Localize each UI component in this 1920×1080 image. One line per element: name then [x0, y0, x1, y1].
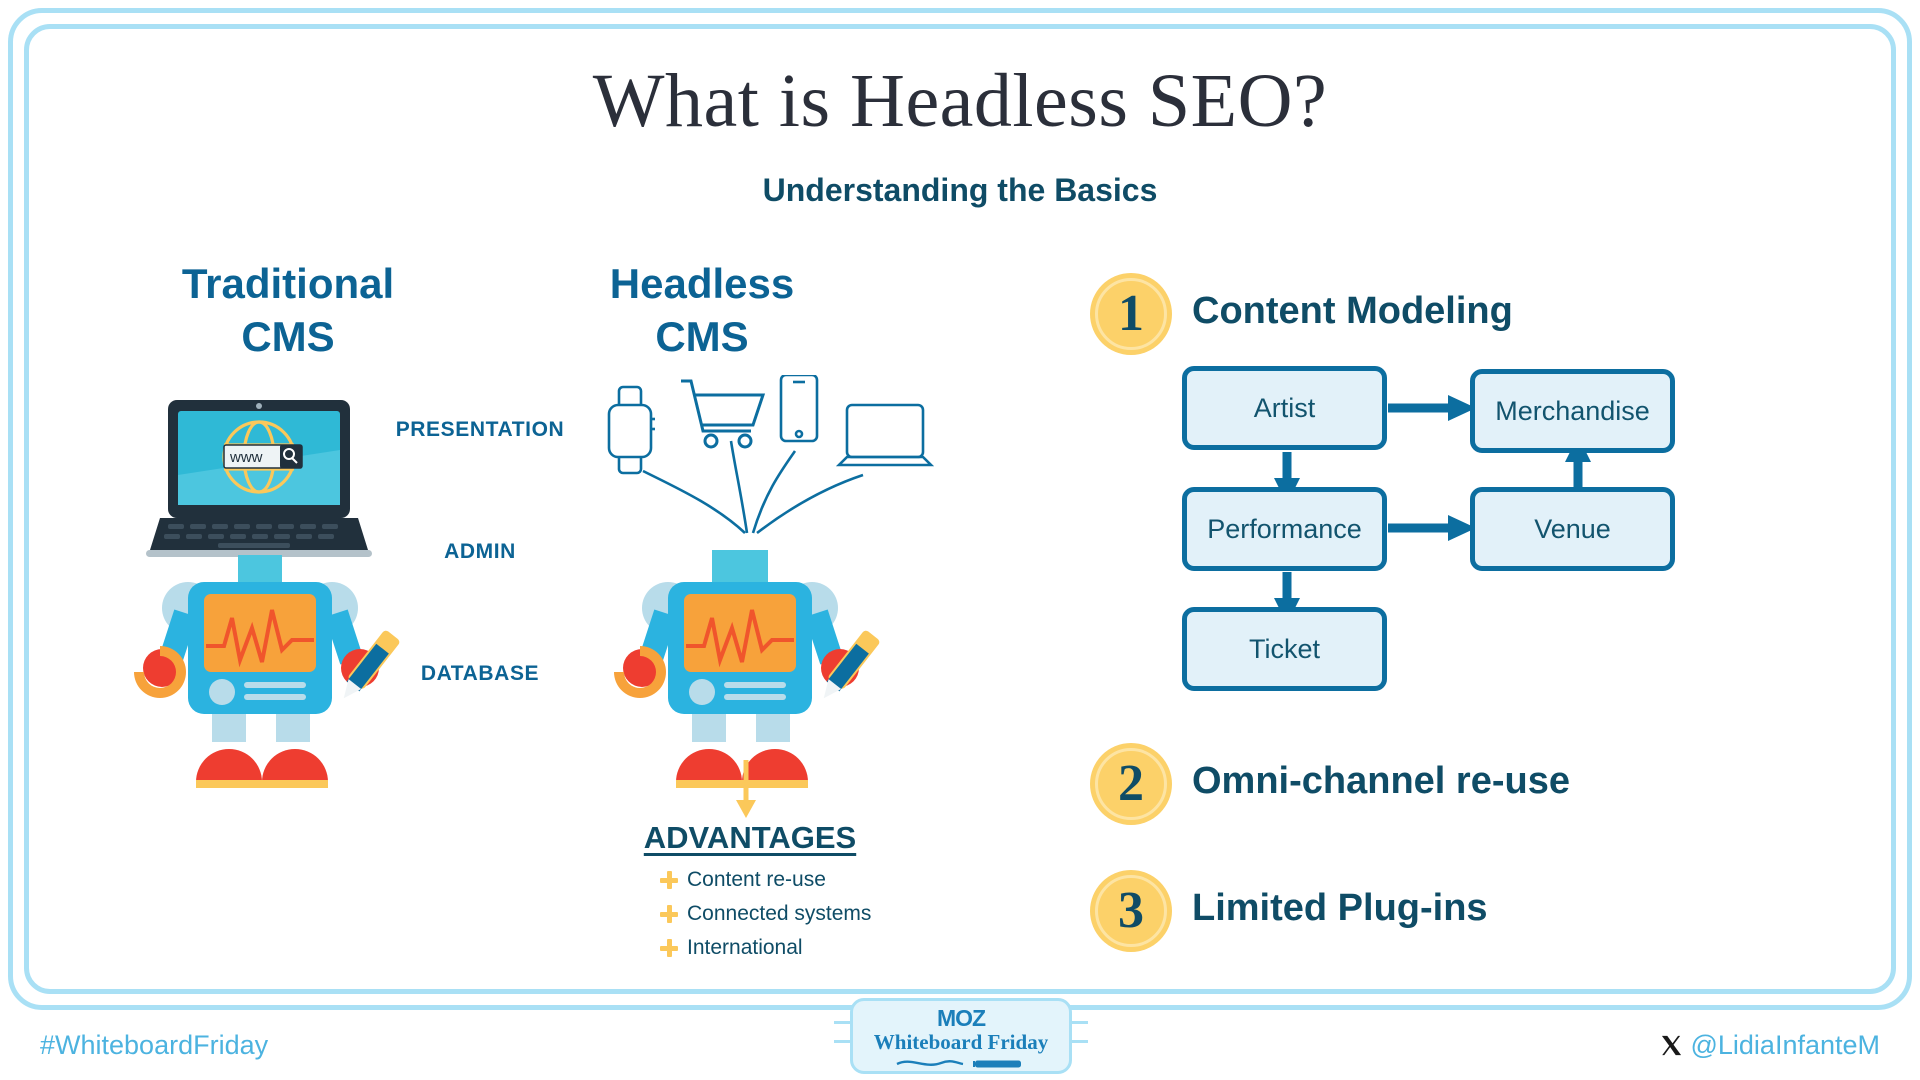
svg-text:www: www: [229, 449, 263, 466]
point-number: 1: [1118, 288, 1144, 340]
advantage-label: International: [687, 936, 803, 960]
badge-tab-left: [834, 1021, 850, 1043]
x-twitter-icon: [1660, 1034, 1683, 1057]
model-box-merchandise[interactable]: Merchandise: [1470, 369, 1675, 453]
advantage-label: Connected systems: [687, 902, 871, 926]
handle-text: @LidiaInfanteM: [1690, 1030, 1880, 1061]
page-title: What is Headless SEO?: [0, 58, 1920, 145]
point-number: 3: [1118, 885, 1144, 937]
heading-headless-line1: Headless: [532, 258, 872, 311]
footer-hashtag: #WhiteboardFriday: [40, 1030, 268, 1061]
model-box-ticket[interactable]: Ticket: [1182, 607, 1387, 691]
slide-root: What is Headless SEO? Understanding the …: [0, 0, 1920, 1080]
model-box-venue[interactable]: Venue: [1470, 487, 1675, 571]
point-label-2: Omni-channel re-use: [1192, 760, 1570, 803]
marker-squiggle-icon: [891, 1055, 1031, 1071]
list-item: Content re-use: [660, 868, 990, 892]
badge-tab-right: [1072, 1021, 1088, 1043]
heading-traditional-line2: CMS: [118, 311, 458, 364]
page-subtitle: Understanding the Basics: [0, 172, 1920, 209]
point-label-1: Content Modeling: [1192, 290, 1513, 333]
point-badge-3: 3: [1090, 870, 1172, 952]
plus-icon: [660, 871, 678, 889]
advantages-list: Content re-use Connected systems Interna…: [660, 868, 990, 970]
advantage-label: Content re-use: [687, 868, 826, 892]
badge-series-text: Whiteboard Friday: [853, 1030, 1069, 1055]
heading-headless-line2: CMS: [532, 311, 872, 364]
plus-icon: [660, 905, 678, 923]
laptop-head-icon: www: [146, 400, 372, 557]
advantages-heading: ADVANTAGES: [600, 820, 900, 856]
moz-whiteboard-friday-badge: MOZ Whiteboard Friday: [850, 998, 1072, 1074]
plus-icon: [660, 939, 678, 957]
heading-traditional-cms: Traditional CMS: [118, 258, 458, 363]
point-badge-2: 2: [1090, 743, 1172, 825]
moz-wordmark: MOZ: [853, 1005, 1069, 1032]
list-item: Connected systems: [660, 902, 990, 926]
headless-cms-robot-illustration: [600, 400, 890, 790]
traditional-cms-robot-illustration: www: [120, 400, 410, 790]
point-label-3: Limited Plug-ins: [1192, 887, 1488, 930]
footer-social-handle[interactable]: @LidiaInfanteM: [1660, 1030, 1880, 1061]
list-item: International: [660, 936, 990, 960]
model-box-performance[interactable]: Performance: [1182, 487, 1387, 571]
heading-headless-cms: Headless CMS: [532, 258, 872, 363]
heading-traditional-line1: Traditional: [118, 258, 458, 311]
point-number: 2: [1118, 758, 1144, 810]
advantages-down-arrow-icon: [728, 760, 764, 820]
model-box-artist[interactable]: Artist: [1182, 366, 1387, 450]
